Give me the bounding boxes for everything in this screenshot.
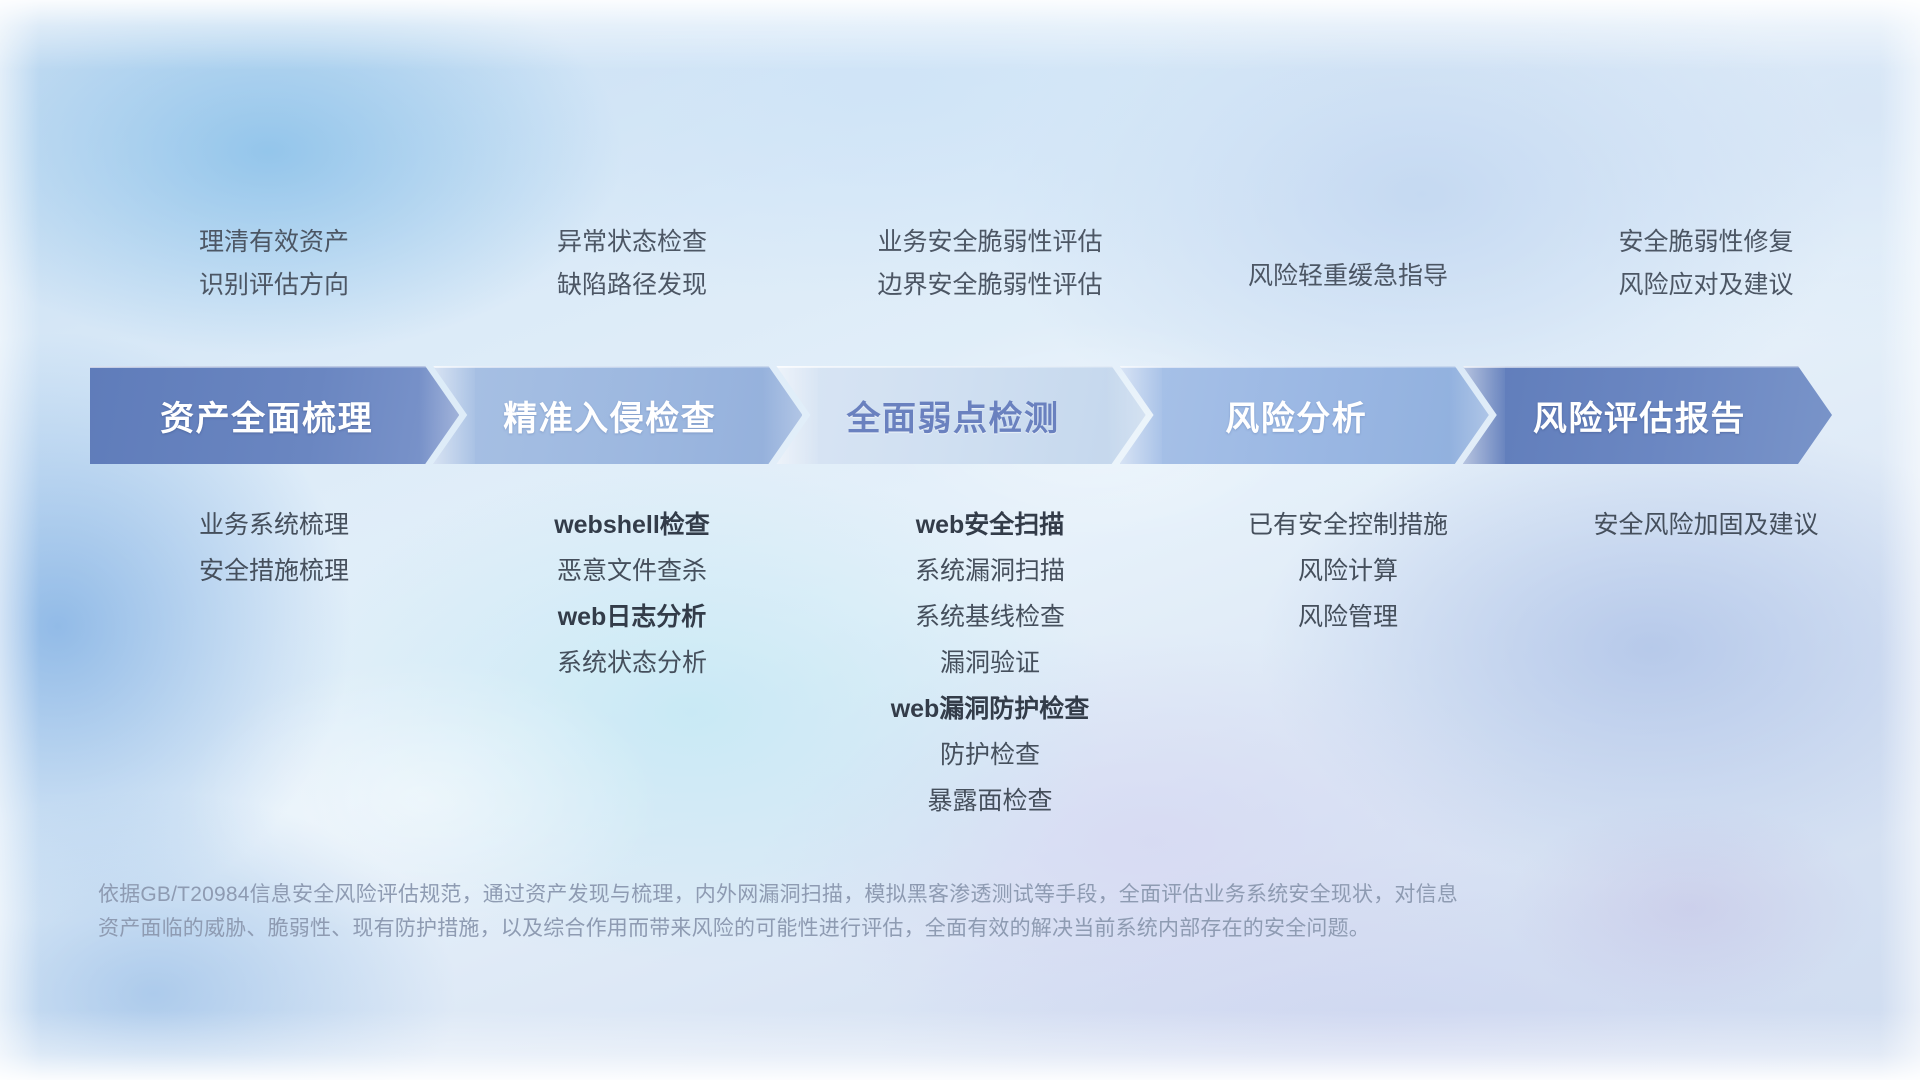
top-col-risk-analysis: 风险轻重缓急指导 [1169, 228, 1527, 328]
top-col-assessment-report: 安全脆弱性修复 风险应对及建议 [1527, 228, 1885, 328]
chevron-top-highlight [776, 366, 1145, 368]
top-item: 异常状态检查 [557, 228, 707, 257]
list-item: 恶意文件查杀 [557, 556, 707, 586]
chevron-top-highlight [1463, 366, 1832, 368]
list-item: 安全风险加固及建议 [1593, 510, 1818, 540]
list-item: 漏洞验证 [940, 648, 1040, 678]
chevron-label: 风险分析 [1225, 391, 1367, 440]
footer-line-1: 依据GB/T20984信息安全风险评估规范，通过资产发现与梳理，内外网漏洞扫描，… [98, 878, 1638, 912]
list-item: 系统漏洞扫描 [915, 556, 1065, 586]
top-labels-row: 理清有效资产 识别评估方向 异常状态检查 缺陷路径发现 业务安全脆弱性评估 边界… [95, 228, 1885, 328]
footer-line-2: 资产面临的威胁、脆弱性、现有防护措施，以及综合作用而带来风险的可能性进行评估，全… [98, 912, 1638, 946]
bottom-col-assessment-report: 安全风险加固及建议 [1527, 510, 1885, 540]
bottom-col-risk-analysis: 已有安全控制措施 风险计算 风险管理 [1169, 510, 1527, 632]
chevron-label: 风险评估报告 [1533, 391, 1746, 440]
chevron-top-highlight [1120, 366, 1489, 368]
list-item: 风险计算 [1298, 556, 1398, 586]
top-item: 缺陷路径发现 [557, 271, 707, 300]
top-item: 业务安全脆弱性评估 [877, 228, 1102, 257]
top-col-asset-inventory: 理清有效资产 识别评估方向 [95, 228, 453, 328]
chevron-step-weakness-detection[interactable]: 全面弱点检测 [776, 366, 1145, 464]
list-item: web安全扫描 [916, 510, 1065, 540]
list-item: 暴露面检查 [927, 786, 1052, 816]
process-diagram: 理清有效资产 识别评估方向 异常状态检查 缺陷路径发现 业务安全脆弱性评估 边界… [0, 0, 1920, 1080]
list-item: 风险管理 [1298, 602, 1398, 632]
top-item: 安全脆弱性修复 [1618, 228, 1793, 257]
chevron-label: 精准入侵检查 [503, 391, 716, 440]
list-item: web日志分析 [558, 602, 707, 632]
chevron-top-highlight [90, 366, 459, 368]
top-item: 边界安全脆弱性评估 [877, 271, 1102, 300]
chevron-step-risk-analysis[interactable]: 风险分析 [1120, 366, 1489, 464]
top-col-weakness-detection: 业务安全脆弱性评估 边界安全脆弱性评估 [811, 228, 1169, 328]
bottom-col-asset-inventory: 业务系统梳理 安全措施梳理 [95, 510, 453, 586]
process-chevron-ribbon: 资产全面梳理 精准入侵检查 全面弱点检测 风险分析 风险评估报告 [90, 366, 1832, 464]
top-item: 风险轻重缓急指导 [1248, 262, 1448, 291]
list-item: 防护检查 [940, 740, 1040, 770]
chevron-label: 资产全面梳理 [160, 391, 373, 440]
chevron-label: 全面弱点检测 [847, 391, 1060, 440]
top-item: 理清有效资产 [199, 228, 349, 257]
list-item: web漏洞防护检查 [891, 694, 1090, 724]
list-item: 已有安全控制措施 [1248, 510, 1448, 540]
list-item: 业务系统梳理 [199, 510, 349, 540]
footer-description: 依据GB/T20984信息安全风险评估规范，通过资产发现与梳理，内外网漏洞扫描，… [98, 878, 1638, 946]
bottom-labels-row: 业务系统梳理 安全措施梳理 webshell检查 恶意文件查杀 web日志分析 … [95, 510, 1885, 816]
top-item: 识别评估方向 [199, 271, 349, 300]
list-item: 安全措施梳理 [199, 556, 349, 586]
chevron-step-assessment-report[interactable]: 风险评估报告 [1463, 366, 1832, 464]
list-item: webshell检查 [554, 510, 710, 540]
chevron-step-asset-inventory[interactable]: 资产全面梳理 [90, 366, 459, 464]
list-item: 系统状态分析 [557, 648, 707, 678]
chevron-step-intrusion-check[interactable]: 精准入侵检查 [433, 366, 802, 464]
top-col-intrusion-check: 异常状态检查 缺陷路径发现 [453, 228, 811, 328]
chevron-top-highlight [433, 366, 802, 368]
top-item: 风险应对及建议 [1618, 271, 1793, 300]
bottom-col-intrusion-check: webshell检查 恶意文件查杀 web日志分析 系统状态分析 [453, 510, 811, 678]
list-item: 系统基线检查 [915, 602, 1065, 632]
bottom-col-weakness-detection: web安全扫描 系统漏洞扫描 系统基线检查 漏洞验证 web漏洞防护检查 防护检… [811, 510, 1169, 816]
